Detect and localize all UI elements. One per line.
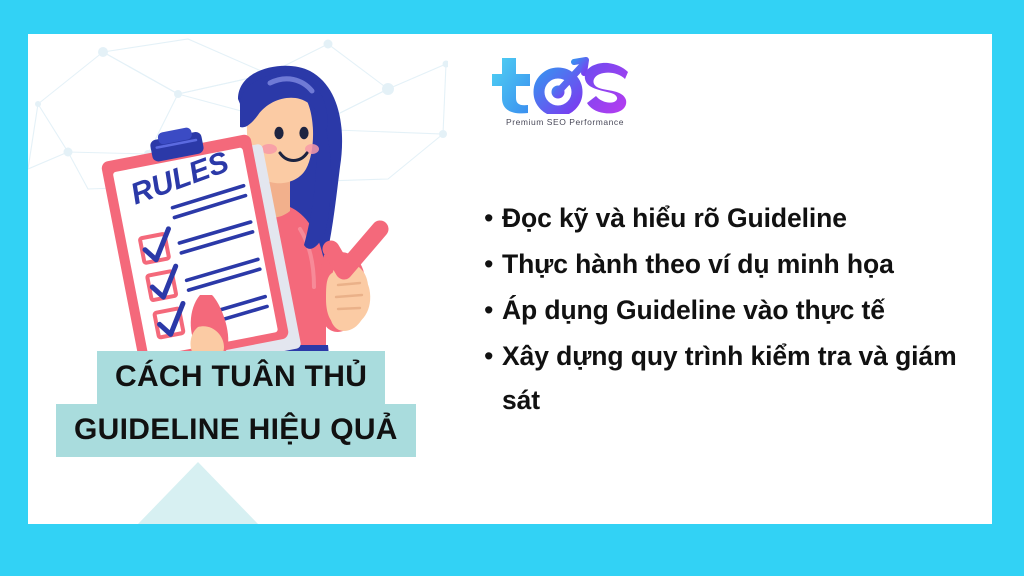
list-item: • Áp dụng Guideline vào thực tế bbox=[480, 288, 992, 332]
slide-title: CÁCH TUÂN THỦ GUIDELINE HIỆU QUẢ bbox=[50, 351, 480, 457]
slide-canvas: RULES bbox=[0, 0, 1024, 576]
title-line-1-text: CÁCH TUÂN THỦ bbox=[97, 351, 385, 405]
rules-clipboard-illustration: RULES bbox=[88, 59, 428, 389]
list-item-text: Xây dựng quy trình kiểm tra và giám sát bbox=[502, 334, 992, 422]
bullet-marker-icon: • bbox=[480, 242, 502, 286]
tos-logo: Premium SEO Performance bbox=[480, 56, 650, 127]
bullet-marker-icon: • bbox=[480, 288, 502, 332]
title-line-2-text: GUIDELINE HIỆU QUẢ bbox=[56, 404, 416, 458]
triangle-decoration bbox=[138, 462, 258, 524]
bullet-marker-icon: • bbox=[480, 334, 502, 378]
list-item-text: Áp dụng Guideline vào thực tế bbox=[502, 288, 992, 332]
slide-card: RULES bbox=[28, 34, 992, 524]
tos-logo-mark bbox=[480, 56, 630, 114]
bullet-marker-icon: • bbox=[480, 196, 502, 240]
title-line-1: CÁCH TUÂN THỦ bbox=[97, 351, 480, 405]
title-line-2: GUIDELINE HIỆU QUẢ bbox=[56, 404, 480, 458]
list-item-text: Thực hành theo ví dụ minh họa bbox=[502, 242, 992, 286]
list-item: • Đọc kỹ và hiểu rõ Guideline bbox=[480, 196, 992, 240]
list-item-text: Đọc kỹ và hiểu rõ Guideline bbox=[502, 196, 992, 240]
logo-tagline: Premium SEO Performance bbox=[480, 117, 650, 127]
bullet-list: • Đọc kỹ và hiểu rõ Guideline • Thực hàn… bbox=[480, 196, 992, 424]
list-item: • Thực hành theo ví dụ minh họa bbox=[480, 242, 992, 286]
list-item: • Xây dựng quy trình kiểm tra và giám sá… bbox=[480, 334, 992, 422]
